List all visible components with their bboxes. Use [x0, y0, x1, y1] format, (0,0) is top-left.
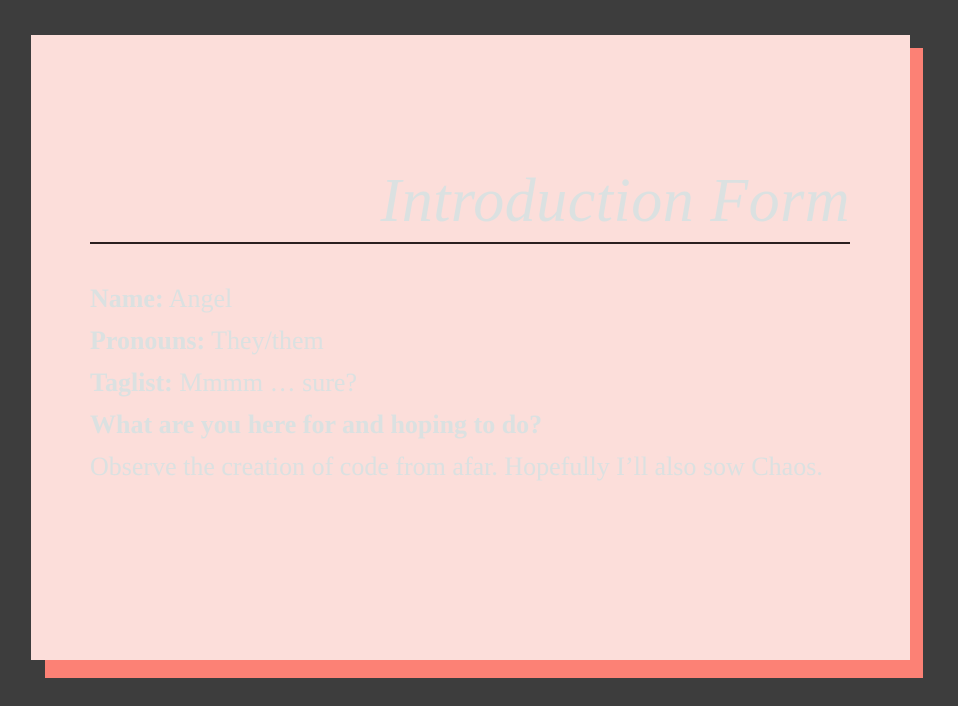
form-prompt-answer: Observe the creation of code from afar. … [90, 446, 862, 488]
form-field-list: Name: Angel Pronouns: They/them Taglist:… [90, 278, 862, 488]
form-field-pronouns-label: Pronouns: [90, 326, 205, 355]
form-prompt-question: What are you here for and hoping to do? [90, 404, 862, 446]
form-field-name: Name: Angel [90, 278, 862, 320]
form-field-name-label: Name: [90, 284, 164, 313]
introduction-form-card: Introduction Form Name: Angel Pronouns: … [31, 35, 910, 660]
form-field-pronouns-value: They/them [211, 326, 324, 355]
title-divider [90, 242, 850, 244]
form-field-name-value: Angel [169, 284, 233, 313]
page-title: Introduction Form [381, 167, 850, 235]
form-field-taglist-value: Mmmm … sure? [179, 368, 357, 397]
form-field-taglist: Taglist: Mmmm … sure? [90, 362, 862, 404]
slide-stage: Introduction Form Name: Angel Pronouns: … [0, 0, 958, 706]
form-field-pronouns: Pronouns: They/them [90, 320, 862, 362]
form-field-taglist-label: Taglist: [90, 368, 173, 397]
